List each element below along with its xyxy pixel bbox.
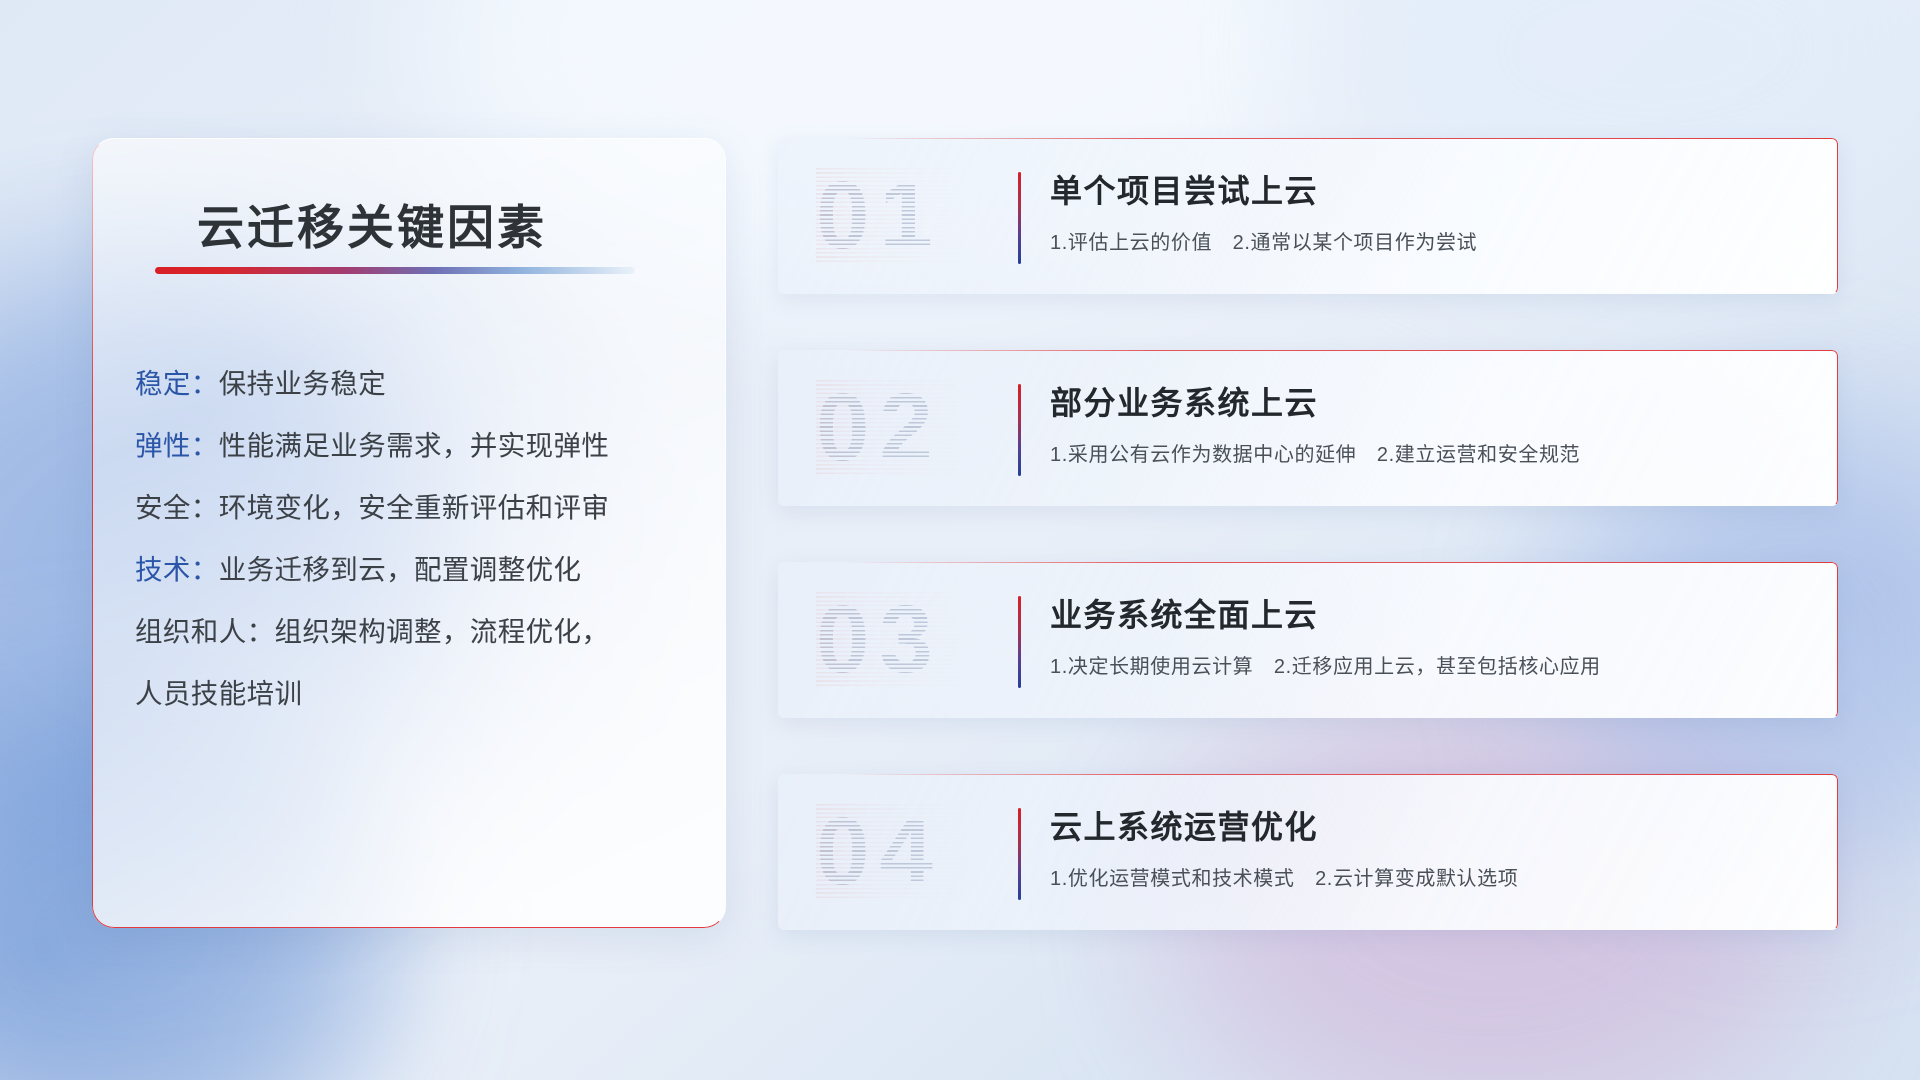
card-description: 1.决定长期使用云计算 2.迁移应用上云，甚至包括核心应用: [1050, 650, 1812, 679]
card-body: 部分业务系统上云 1.采用公有云作为数据中心的延伸 2.建立运营和安全规范: [1050, 384, 1812, 467]
factor-item: 弹性：性能满足业务需求，并实现弹性: [135, 415, 695, 477]
title-underline-rule: [155, 267, 635, 274]
key-factors-panel: 云迁移关键因素 稳定：保持业务稳定 弹性：性能满足业务需求，并实现弹性 安全：环…: [92, 138, 726, 928]
stage-card[interactable]: 01 单个项目尝试上云 1.评估上云的价值 2.通常以某个项目作为尝试: [778, 138, 1838, 294]
factor-label: 组织和人：: [135, 616, 275, 647]
factor-item: 稳定：保持业务稳定: [135, 353, 695, 415]
card-title: 业务系统全面上云: [1050, 596, 1812, 634]
card-body: 单个项目尝试上云 1.评估上云的价值 2.通常以某个项目作为尝试: [1050, 172, 1812, 255]
card-divider-bar: [1018, 172, 1021, 264]
page-title: 云迁移关键因素: [197, 189, 547, 258]
factor-label: 稳定：: [135, 368, 219, 399]
factor-value: 业务迁移到云，配置调整优化: [219, 554, 582, 585]
card-description: 1.采用公有云作为数据中心的延伸 2.建立运营和安全规范: [1050, 438, 1812, 467]
factor-value: 组织架构调整，流程优化，: [275, 616, 610, 647]
factor-item: 技术：业务迁移到云，配置调整优化: [135, 539, 695, 601]
card-divider-bar: [1018, 808, 1021, 900]
factor-value: 人员技能培训: [135, 678, 302, 709]
card-title: 单个项目尝试上云: [1050, 172, 1812, 210]
stage-card[interactable]: 03 业务系统全面上云 1.决定长期使用云计算 2.迁移应用上云，甚至包括核心应…: [778, 562, 1838, 718]
stage-number: 03: [816, 592, 1036, 688]
card-body: 业务系统全面上云 1.决定长期使用云计算 2.迁移应用上云，甚至包括核心应用: [1050, 596, 1812, 679]
factor-label: 弹性：: [135, 430, 219, 461]
stage-card-list: 01 单个项目尝试上云 1.评估上云的价值 2.通常以某个项目作为尝试 02 部…: [778, 138, 1838, 930]
stage-number: 01: [816, 168, 1036, 264]
card-title: 云上系统运营优化: [1050, 808, 1812, 846]
slide-canvas: 云迁移关键因素 稳定：保持业务稳定 弹性：性能满足业务需求，并实现弹性 安全：环…: [0, 0, 1920, 1080]
factor-item: 组织和人：组织架构调整，流程优化，: [135, 601, 695, 663]
factor-label: 技术：: [135, 554, 219, 585]
card-description: 1.优化运营模式和技术模式 2.云计算变成默认选项: [1050, 862, 1812, 891]
factor-value: 保持业务稳定: [219, 368, 386, 399]
card-description: 1.评估上云的价值 2.通常以某个项目作为尝试: [1050, 226, 1812, 255]
card-divider-bar: [1018, 596, 1021, 688]
card-divider-bar: [1018, 384, 1021, 476]
factor-label: 安全：: [135, 492, 219, 523]
factor-value: 性能满足业务需求，并实现弹性: [219, 430, 610, 461]
stage-card[interactable]: 04 云上系统运营优化 1.优化运营模式和技术模式 2.云计算变成默认选项: [778, 774, 1838, 930]
factor-item-continuation: 人员技能培训: [135, 663, 695, 725]
stage-number: 02: [816, 380, 1036, 476]
stage-number: 04: [816, 804, 1036, 900]
stage-card[interactable]: 02 部分业务系统上云 1.采用公有云作为数据中心的延伸 2.建立运营和安全规范: [778, 350, 1838, 506]
factor-item: 安全：环境变化，安全重新评估和评审: [135, 477, 695, 539]
factor-value: 环境变化，安全重新评估和评审: [219, 492, 610, 523]
factor-list: 稳定：保持业务稳定 弹性：性能满足业务需求，并实现弹性 安全：环境变化，安全重新…: [135, 353, 695, 725]
card-title: 部分业务系统上云: [1050, 384, 1812, 422]
card-body: 云上系统运营优化 1.优化运营模式和技术模式 2.云计算变成默认选项: [1050, 808, 1812, 891]
